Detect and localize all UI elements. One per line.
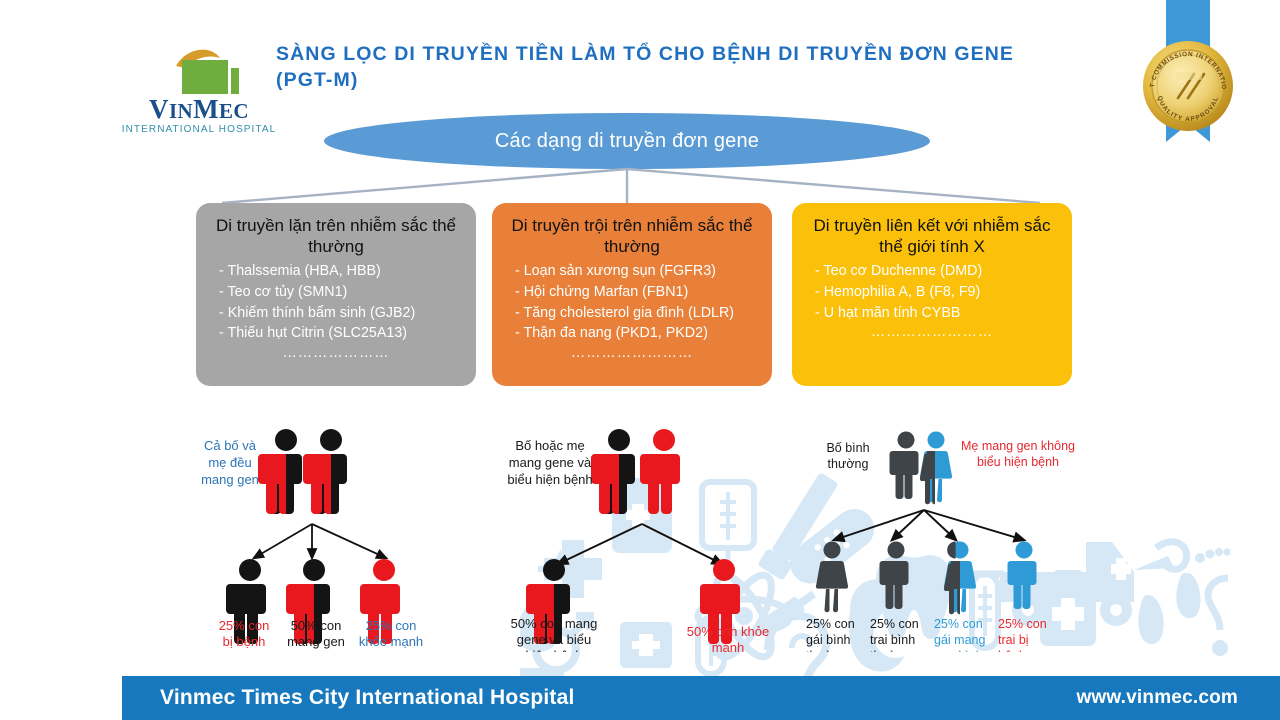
category-box-dominant: Di truyền trội trên nhiễm sắc thể thường… [492,203,772,386]
svg-text:thường: thường [806,649,847,652]
svg-text:25% con: 25% con [219,618,270,633]
svg-text:gen bình: gen bình [934,649,983,652]
diagram-parent-label: Bố hoặc mẹ mang gene và biểu hiện bệnh [507,438,592,487]
svg-text:trai bị: trai bị [998,633,1029,647]
svg-text:biểu hiện bệnh: biểu hiện bệnh [977,455,1059,469]
pedigree-diagram-recessive: Cả bố và mẹ đều mang gen 25% conbị bệnh [188,412,478,652]
svg-text:Bố hoặc mẹ: Bố hoặc mẹ [515,438,584,453]
pedigree-diagram-dominant: Bố hoặc mẹ mang gene và biểu hiện bệnh 5… [492,412,788,652]
category-ellipsis: ………………… [282,345,389,361]
svg-text:gái mang: gái mang [934,633,985,647]
diagram-outcome-label: 50% con mang gene và biểu hiện bệnh [511,616,598,652]
svg-text:INTERNATIONAL HOSPITAL: INTERNATIONAL HOSPITAL [122,124,277,135]
slide-canvas: JOINT COMMISSION INTERNATIONAL QUALITY A… [0,0,1280,720]
category-ellipsis: …………………… [571,345,693,361]
page-title-line2: (PGT-M) [276,68,1076,94]
diagram-outcome-label: 50% con khỏe mạnh [687,624,769,652]
svg-text:25% con: 25% con [998,617,1047,631]
page-title: SÀNG LỌC DI TRUYỀN TIỀN LÀM TỔ CHO BỆNH … [276,42,1076,93]
category-box-xlinked: Di truyền liên kết với nhiễm sắc thể giớ… [792,203,1072,386]
category-item: - Tăng cholesterol gia đình (LDLR) [515,303,734,324]
category-item: - Hội chứng Marfan (FBN1) [515,282,734,303]
svg-text:mang gene và: mang gene và [509,455,592,470]
svg-text:mang gen: mang gen [201,472,259,487]
category-item: - Thiếu hụt Citrin (SLC25A13) [219,323,415,344]
category-item: - Loạn sản xương sụn (FGFR3) [515,261,734,282]
svg-text:mẹ đều: mẹ đều [208,455,251,470]
category-ellipsis: …………………… [871,324,993,340]
svg-text:25% con: 25% con [366,618,417,633]
category-heading: Di truyền liên kết với nhiễm sắc thể giớ… [802,216,1062,257]
category-item: - Hemophilia A, B (F8, F9) [815,282,982,303]
category-item: - Thận đa nang (PKD1, PKD2) [515,323,734,344]
svg-text:gene và biểu: gene và biểu [517,632,591,647]
category-item: - U hạt mãn tính CYBB [815,303,982,324]
svg-text:Mẹ mang gen không: Mẹ mang gen không [961,439,1075,453]
category-item: - Teo cơ Duchenne (DMD) [815,261,982,282]
pedigree-diagram-xlinked: Bố bình thường Mẹ mang gen không biểu hi… [796,412,1086,652]
svg-text:thường: thường [828,457,869,471]
category-box-recessive: Di truyền lặn trên nhiễm sắc thể thường … [196,203,476,386]
svg-text:thường: thường [870,649,911,652]
svg-text:Cả bố và: Cả bố và [204,438,257,453]
svg-text:50% con: 50% con [291,618,342,633]
svg-text:25% con: 25% con [806,617,855,631]
diagram-parent-label: Cả bố và mẹ đều mang gen [201,438,259,487]
vinmec-logo: VINMEC INTERNATIONAL HOSPITAL [118,42,280,138]
diagram-outcome-label: 25% conkhỏe mạnh [359,618,423,649]
diagram-outcome-label: 25% congái manggen bìnhthường [934,617,985,652]
category-item-list: - Thalssemia (HBA, HBB) - Teo cơ tủy (SM… [206,261,415,343]
svg-text:mang gen: mang gen [287,634,345,649]
category-item: - Khiếm thính bẩm sinh (GJB2) [219,303,415,324]
category-heading: Di truyền trội trên nhiễm sắc thể thường [502,216,762,257]
svg-text:50% con khỏe: 50% con khỏe [687,624,769,639]
svg-text:trai bình: trai bình [870,633,915,647]
category-item: - Teo cơ tủy (SMN1) [219,282,415,303]
page-title-line1: SÀNG LỌC DI TRUYỀN TIỀN LÀM TỔ CHO BỆNH … [276,42,1076,68]
svg-text:mạnh: mạnh [712,640,745,652]
category-item-list: - Loạn sản xương sụn (FGFR3) - Hội chứng… [502,261,734,343]
category-item: - Thalssemia (HBA, HBB) [219,261,415,282]
svg-text:biểu hiện bệnh: biểu hiện bệnh [507,472,592,487]
category-heading: Di truyền lặn trên nhiễm sắc thể thường [206,216,466,257]
svg-text:Bố bình: Bố bình [826,441,869,455]
svg-text:VINMEC: VINMEC [149,94,249,124]
medical-hook-icon [1134,542,1187,570]
jci-accreditation-seal: JOINT COMMISSION INTERNATIONAL QUALITY A… [1140,38,1236,134]
svg-text:bệnh: bệnh [998,649,1026,652]
svg-text:bị bệnh: bị bệnh [223,634,266,649]
diagram-mother-label: Mẹ mang gen không biểu hiện bệnh [961,439,1075,469]
diagram-outcome-label: 25% contrai bìnhthường [870,617,919,652]
diagram-outcome-label: 25% conbị bệnh [219,618,270,649]
diagram-outcome-label: 50% conmang gen [287,618,345,649]
diagram-father-label: Bố bình thường [826,441,869,471]
footer-website[interactable]: www.vinmec.com [1076,687,1238,709]
svg-text:25% con: 25% con [870,617,919,631]
svg-text:khỏe mạnh: khỏe mạnh [359,634,423,649]
svg-text:25% con: 25% con [934,617,983,631]
svg-text:50% con mang: 50% con mang [511,616,598,631]
svg-text:gái bình: gái bình [806,633,851,647]
stethoscope-icon [1208,578,1228,656]
diagram-outcome-label: 25% congái bìnhthường [806,617,855,652]
category-item-list: - Teo cơ Duchenne (DMD) - Hemophilia A, … [802,261,982,323]
svg-text:hiện bệnh: hiện bệnh [525,648,582,652]
diagram-outcome-label: 25% contrai bịbệnh [998,617,1047,652]
footprints-icon [1138,548,1230,644]
footer-hospital-name: Vinmec Times City International Hospital [160,686,575,710]
footer-bar: Vinmec Times City International Hospital… [122,676,1280,720]
